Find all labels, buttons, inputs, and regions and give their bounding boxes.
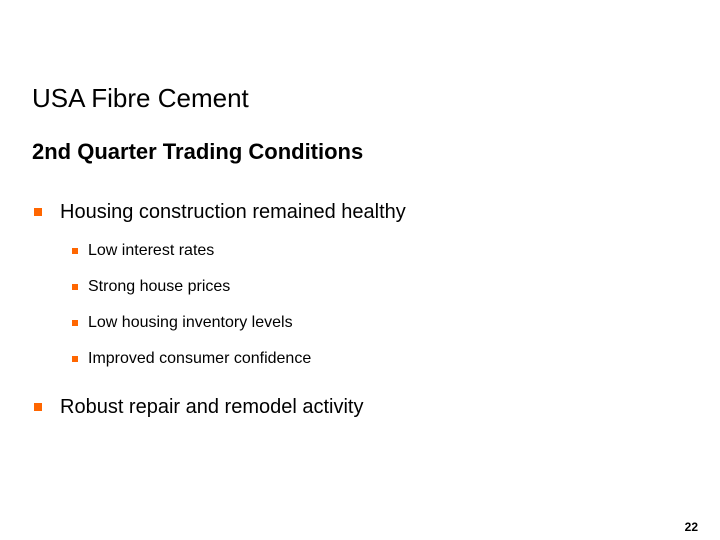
spacer: [0, 297, 720, 313]
list-item-label: Low housing inventory levels: [88, 313, 720, 333]
spacer: [0, 224, 720, 241]
bullet-list: Housing construction remained healthy Lo…: [0, 200, 720, 419]
page-title: USA Fibre Cement: [32, 84, 249, 113]
presentation-slide: USA Fibre Cement 2nd Quarter Trading Con…: [0, 0, 720, 540]
square-bullet-icon: [72, 320, 78, 326]
spacer: [0, 369, 720, 395]
list-item: Low interest rates: [0, 241, 720, 261]
list-item: Low housing inventory levels: [0, 313, 720, 333]
list-item: Strong house prices: [0, 277, 720, 297]
list-item: Improved consumer confidence: [0, 349, 720, 369]
slide-subtitle: 2nd Quarter Trading Conditions: [32, 140, 363, 164]
list-item-label: Improved consumer confidence: [88, 349, 720, 369]
list-item-label: Robust repair and remodel activity: [60, 395, 720, 419]
square-bullet-icon: [34, 208, 42, 216]
list-item: Housing construction remained healthy: [0, 200, 720, 224]
square-bullet-icon: [72, 248, 78, 254]
spacer: [0, 261, 720, 277]
page-number: 22: [685, 520, 698, 534]
list-item-label: Housing construction remained healthy: [60, 200, 720, 224]
square-bullet-icon: [72, 356, 78, 362]
list-item-label: Strong house prices: [88, 277, 720, 297]
square-bullet-icon: [72, 284, 78, 290]
list-item-label: Low interest rates: [88, 241, 720, 261]
spacer: [0, 333, 720, 349]
square-bullet-icon: [34, 403, 42, 411]
list-item: Robust repair and remodel activity: [0, 395, 720, 419]
